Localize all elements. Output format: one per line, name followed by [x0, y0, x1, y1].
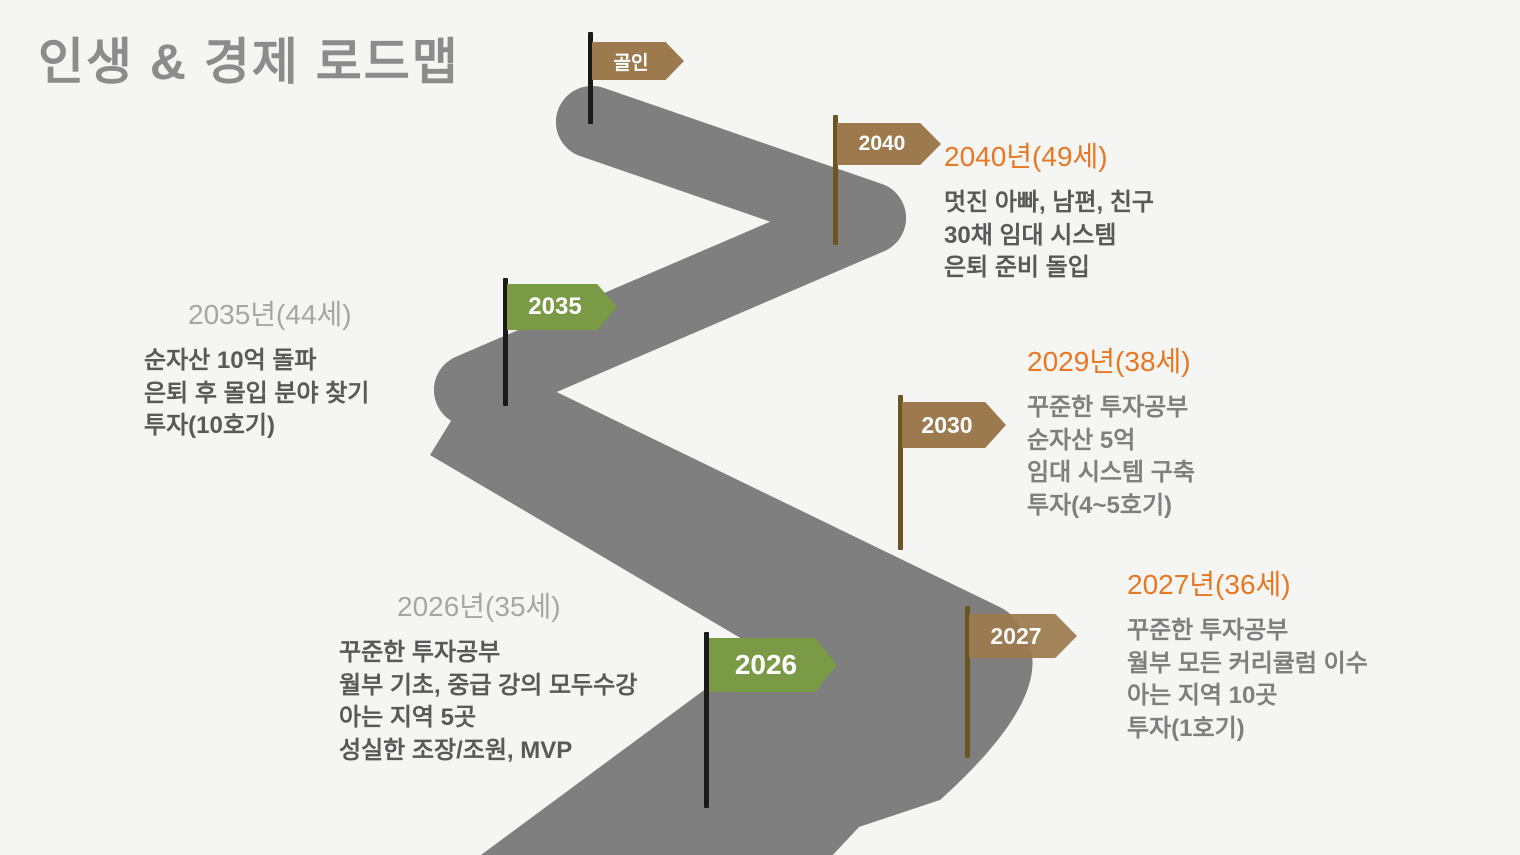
- milestone-2029: 2029년(38세) 꾸준한 투자공부 순자산 5억 임대 시스템 구축 투자(…: [1027, 340, 1195, 523]
- milestone-line: 임대 시스템 구축: [1027, 457, 1195, 490]
- flag-banner-label: 2030: [902, 402, 1006, 448]
- milestone-2035: 2035년(44세) 순자산 10억 돌파 은퇴 후 몰입 분야 찾기 투자(1…: [144, 293, 369, 443]
- milestone-body: 꾸준한 투자공부 순자산 5억 임대 시스템 구축 투자(4~5호기): [1027, 392, 1195, 523]
- milestone-header: 2026년(35세): [397, 585, 637, 625]
- milestone-line: 월부 기초, 중급 강의 모두수강: [339, 670, 637, 703]
- milestone-body: 순자산 10억 돌파 은퇴 후 몰입 분야 찾기 투자(10호기): [144, 345, 369, 443]
- milestone-line: 성실한 조장/조원, MVP: [339, 735, 637, 768]
- milestone-2026: 2026년(35세) 꾸준한 투자공부 월부 기초, 중급 강의 모두수강 아는…: [339, 585, 637, 768]
- flag-2040[interactable]: 2040: [833, 115, 943, 245]
- flag-pole: [704, 632, 709, 808]
- milestone-body: 멋진 아빠, 남편, 친구 30채 임대 시스템 은퇴 준비 돌입: [944, 187, 1154, 285]
- milestone-header: 2027년(36세): [1127, 563, 1368, 603]
- milestone-line: 순자산 10억 돌파: [144, 345, 369, 378]
- milestone-header: 2040년(49세): [944, 135, 1154, 175]
- flag-2035[interactable]: 2035: [503, 278, 618, 406]
- milestone-line: 멋진 아빠, 남편, 친구: [944, 187, 1154, 220]
- milestone-line: 꾸준한 투자공부: [339, 637, 637, 670]
- milestone-line: 순자산 5억: [1027, 425, 1195, 458]
- milestone-line: 꾸준한 투자공부: [1127, 615, 1368, 648]
- milestone-header: 2035년(44세): [188, 293, 369, 333]
- flag-goal[interactable]: 골인: [588, 32, 688, 124]
- flag-banner-label: 골인: [592, 42, 684, 80]
- milestone-2040: 2040년(49세) 멋진 아빠, 남편, 친구 30채 임대 시스템 은퇴 준…: [944, 135, 1154, 285]
- milestone-line: 월부 모든 커리큘럼 이수: [1127, 648, 1368, 681]
- flag-2027[interactable]: 2027: [965, 606, 1080, 758]
- milestone-body: 꾸준한 투자공부 월부 기초, 중급 강의 모두수강 아는 지역 5곳 성실한 …: [339, 637, 637, 768]
- roadmap-slide: 인생 & 경제 로드맵 골인 2040 2035 2030 2027 2026 …: [0, 0, 1520, 855]
- milestone-line: 꾸준한 투자공부: [1027, 392, 1195, 425]
- milestone-header: 2029년(38세): [1027, 340, 1195, 380]
- milestone-line: 30채 임대 시스템: [944, 220, 1154, 253]
- milestone-body: 꾸준한 투자공부 월부 모든 커리큘럼 이수 아는 지역 10곳 투자(1호기): [1127, 615, 1368, 746]
- milestone-2027: 2027년(36세) 꾸준한 투자공부 월부 모든 커리큘럼 이수 아는 지역 …: [1127, 563, 1368, 746]
- flag-banner-label: 2040: [837, 123, 941, 165]
- milestone-line: 은퇴 후 몰입 분야 찾기: [144, 378, 369, 411]
- flag-banner-label: 2027: [969, 614, 1077, 658]
- flag-banner-label: 2026: [709, 638, 837, 692]
- flag-2030[interactable]: 2030: [898, 395, 1008, 550]
- milestone-line: 투자(10호기): [144, 410, 369, 443]
- page-title: 인생 & 경제 로드맵: [38, 22, 460, 94]
- milestone-line: 아는 지역 5곳: [339, 702, 637, 735]
- milestone-line: 아는 지역 10곳: [1127, 680, 1368, 713]
- milestone-line: 투자(1호기): [1127, 713, 1368, 746]
- milestone-line: 투자(4~5호기): [1027, 490, 1195, 523]
- milestone-line: 은퇴 준비 돌입: [944, 252, 1154, 285]
- flag-banner-label: 2035: [507, 284, 617, 330]
- flag-2026[interactable]: 2026: [704, 632, 839, 808]
